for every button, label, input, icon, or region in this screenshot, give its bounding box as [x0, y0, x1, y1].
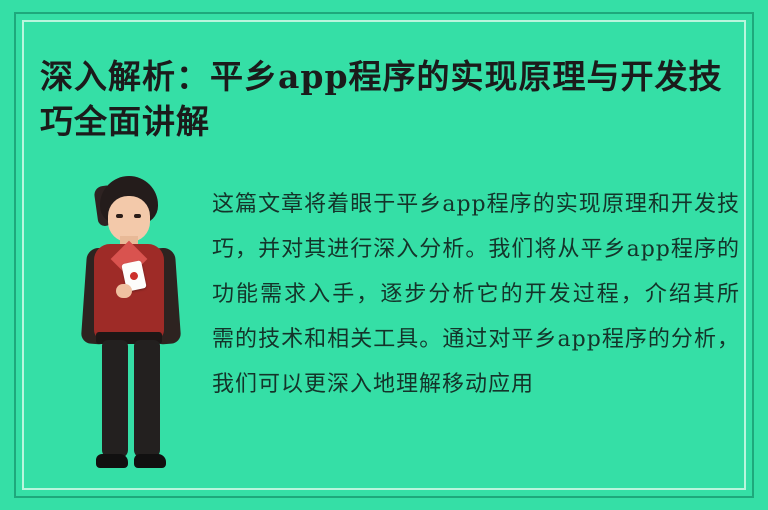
- character-leg-right: [134, 340, 160, 458]
- character-shoe-right: [134, 454, 166, 468]
- character-illustration: [72, 176, 204, 476]
- poster-canvas: 深入解析：平乡app程序的实现原理与开发技巧全面讲解 这篇文章将着眼于平乡app…: [0, 0, 768, 510]
- character-hand: [116, 284, 132, 298]
- character-shoe-left: [96, 454, 128, 468]
- article-body: 这篇文章将着眼于平乡app程序的实现原理和开发技巧，并对其进行深入分析。我们将从…: [212, 182, 740, 407]
- character-leg-left: [102, 340, 128, 458]
- character-eye-left: [116, 214, 123, 218]
- page-title: 深入解析：平乡app程序的实现原理与开发技巧全面讲解: [40, 54, 740, 144]
- character-eye-right: [134, 214, 141, 218]
